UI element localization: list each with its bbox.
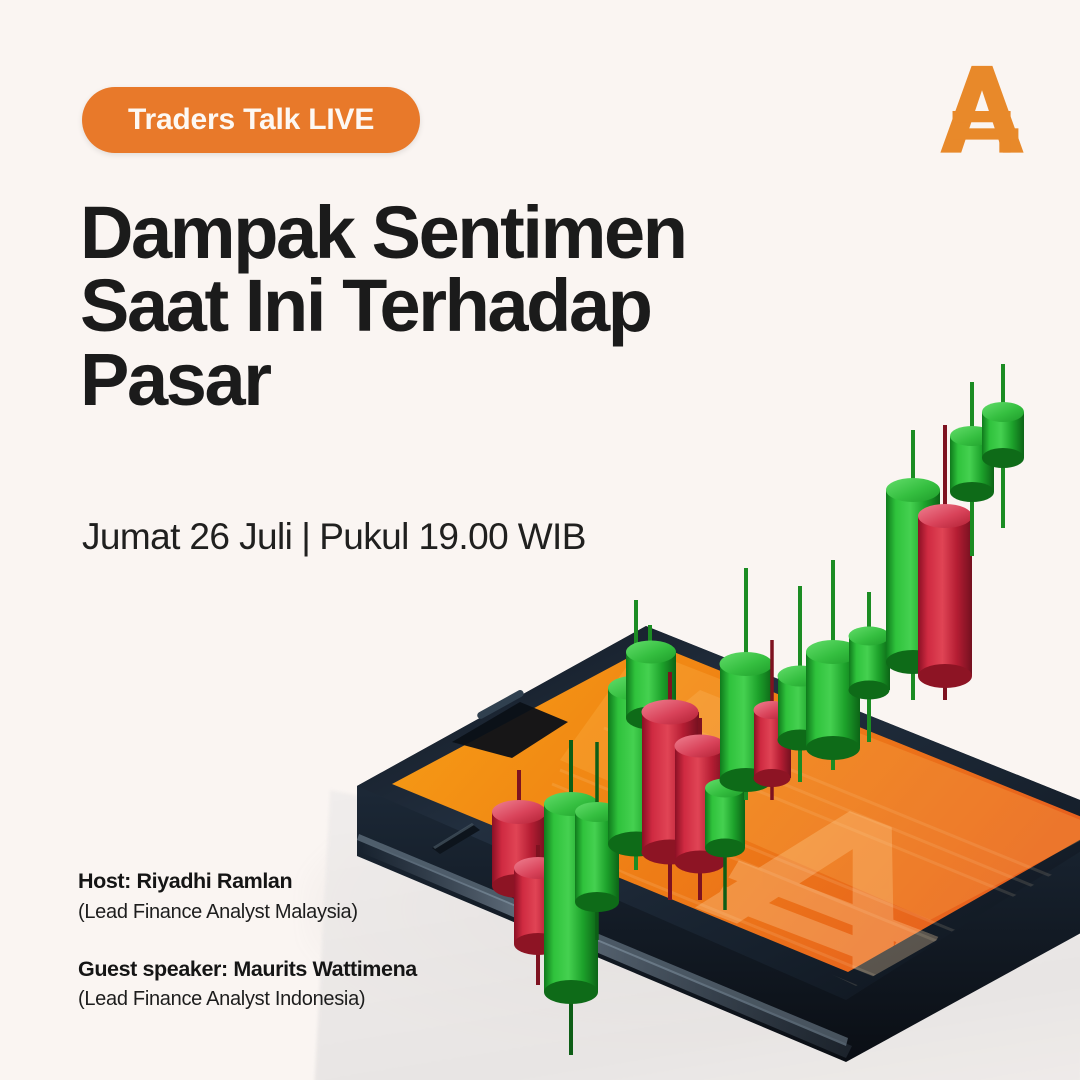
live-badge[interactable]: Traders Talk LIVE [82,87,420,153]
guest-credit: Guest speaker: Maurits Wattimena (Lead F… [78,956,417,1014]
schedule-date: Jumat 26 Juli [82,516,292,557]
floor-plate [314,790,1080,1080]
floor-shadow [300,700,1080,1080]
schedule-line: Jumat 26 Juli|Pukul 19.00 WIB [82,516,586,558]
brand-logo-a-icon [930,58,1034,164]
page-title: Dampak Sentimen Saat Ini Terhadap Pasar [80,196,840,416]
live-badge-label: Traders Talk LIVE [128,105,374,135]
smartphone [357,626,1080,1062]
guest-name: Guest speaker: Maurits Wattimena [78,956,417,984]
headline-line-1: Dampak Sentimen [80,196,840,269]
guest-role: (Lead Finance Analyst Indonesia) [78,986,417,1013]
credits-block: Host: Riyadhi Ramlan (Lead Finance Analy… [78,868,417,1013]
host-role: (Lead Finance Analyst Malaysia) [78,899,417,926]
host-credit: Host: Riyadhi Ramlan (Lead Finance Analy… [78,868,417,926]
candlestick-chart-3d [492,364,1024,1055]
promo-poster: Traders Talk LIVE Dampak Sentimen Saat I… [0,0,1080,1080]
schedule-separator: | [292,516,319,558]
headline-line-3: Pasar [80,343,840,416]
schedule-time: Pukul 19.00 WIB [319,516,586,557]
headline-line-2: Saat Ini Terhadap [80,269,840,342]
host-name: Host: Riyadhi Ramlan [78,868,417,896]
